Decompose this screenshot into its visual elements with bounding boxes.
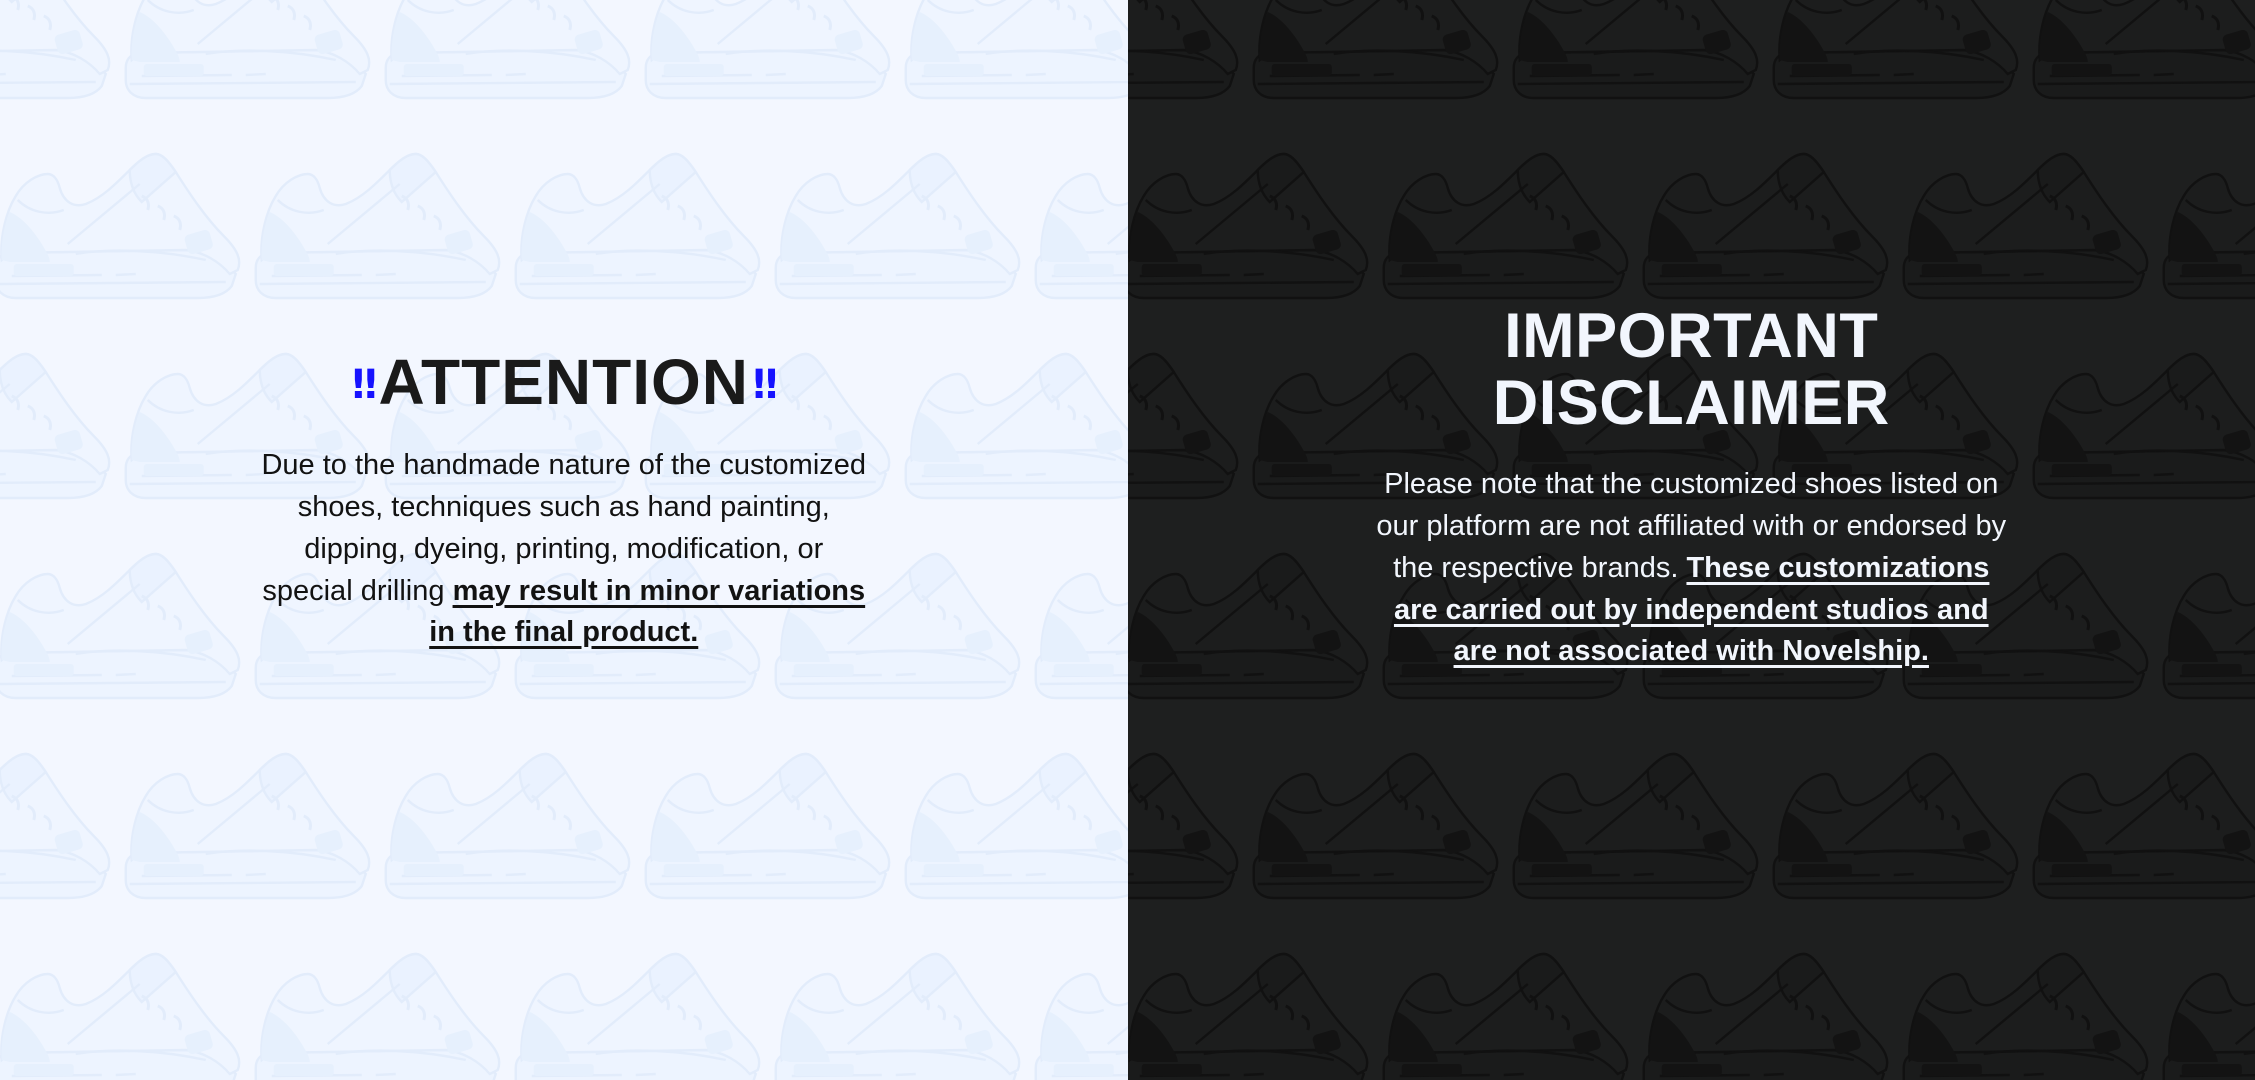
disclaimer-heading-line2: DISCLAIMER: [1493, 368, 1890, 438]
disclaimer-heading: IMPORTANTDISCLAIMER: [1288, 303, 2096, 437]
customs-notice-banner: ‼ATTENTION‼ Due to the handmade nature o…: [0, 0, 2255, 1080]
double-exclamation-icon-right: ‼: [753, 362, 776, 408]
disclaimer-content: IMPORTANTDISCLAIMER Please note that the…: [1128, 303, 2255, 673]
attention-body-emphasis: may result in minor variations in the fi…: [429, 575, 865, 649]
disclaimer-heading-line1: IMPORTANT: [1504, 301, 1878, 371]
attention-content: ‼ATTENTION‼ Due to the handmade nature o…: [0, 350, 1128, 654]
attention-heading: ‼ATTENTION‼: [150, 350, 978, 415]
attention-panel: ‼ATTENTION‼ Due to the handmade nature o…: [0, 0, 1128, 1080]
double-exclamation-icon-left: ‼: [352, 362, 375, 408]
attention-body: Due to the handmade nature of the custom…: [259, 445, 869, 654]
disclaimer-body: Please note that the customized shoes li…: [1371, 464, 2011, 673]
disclaimer-panel: IMPORTANTDISCLAIMER Please note that the…: [1128, 0, 2255, 1080]
attention-heading-text: ATTENTION: [379, 346, 749, 418]
